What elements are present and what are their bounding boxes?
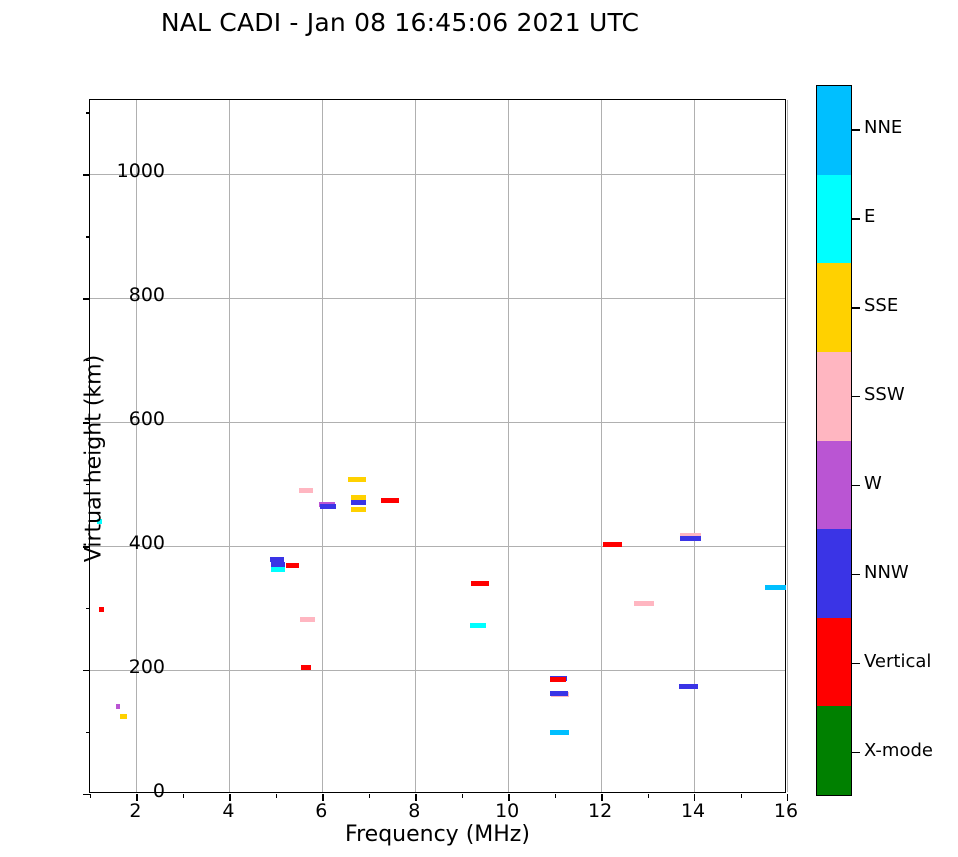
gridline-vertical xyxy=(322,100,323,792)
x-tick-label: 12 xyxy=(570,800,630,822)
data-mark-nnw xyxy=(351,500,366,505)
gridline-horizontal xyxy=(90,422,785,423)
gridline-vertical xyxy=(508,100,509,792)
x-tick-minor xyxy=(741,794,742,798)
colorbar-tick xyxy=(852,129,860,130)
data-mark-nne xyxy=(550,730,569,735)
colorbar-tick xyxy=(852,485,860,486)
colorbar-segment-nnw xyxy=(817,529,851,618)
gridline-vertical xyxy=(601,100,602,792)
colorbar-label-ssw: SSW xyxy=(864,384,905,405)
x-tick-label: 10 xyxy=(477,800,537,822)
x-tick-minor xyxy=(183,794,184,798)
x-tick-label: 16 xyxy=(756,800,816,822)
colorbar-label-x-mode: X-mode xyxy=(864,740,933,761)
data-mark-vertical xyxy=(603,542,622,547)
data-mark-nnw xyxy=(270,557,284,562)
data-mark-vertical xyxy=(286,563,299,568)
colorbar-segment-w xyxy=(817,441,851,530)
colorbar-segment-nne xyxy=(817,86,851,175)
x-axis-title: Frequency (MHz) xyxy=(89,822,786,847)
data-mark-nnw xyxy=(271,562,285,567)
x-tick-minor xyxy=(276,794,277,798)
colorbar-tick xyxy=(852,752,860,753)
colorbar-label-nne: NNE xyxy=(864,117,902,138)
y-axis-title: Virtual height (km) xyxy=(82,109,107,809)
colorbar-tick xyxy=(852,574,860,575)
x-tick-label: 6 xyxy=(291,800,351,822)
colorbar-label-sse: SSE xyxy=(864,295,898,316)
data-mark-vertical xyxy=(301,665,311,670)
x-tick-minor xyxy=(648,794,649,798)
x-tick-minor xyxy=(369,794,370,798)
gridline-horizontal xyxy=(90,174,785,175)
colorbar-label-vertical: Vertical xyxy=(864,651,931,672)
gridline-vertical xyxy=(136,100,137,792)
gridline-horizontal xyxy=(90,298,785,299)
data-mark-ssw xyxy=(634,601,654,606)
plot-area xyxy=(89,99,786,793)
colorbar-tick xyxy=(852,396,860,397)
data-mark-ssw xyxy=(300,617,315,622)
colorbar-tick xyxy=(852,307,860,308)
data-mark-e xyxy=(271,567,285,572)
colorbar-tick xyxy=(852,663,860,664)
data-mark-w xyxy=(116,704,121,709)
x-tick-label: 2 xyxy=(105,800,165,822)
data-mark-ssw xyxy=(299,488,313,493)
gridline-vertical xyxy=(229,100,230,792)
colorbar-segment-vertical xyxy=(817,618,851,707)
colorbar-segment-x-mode xyxy=(817,706,851,795)
colorbar-segment-sse xyxy=(817,263,851,352)
gridline-vertical xyxy=(787,100,788,792)
data-mark-nnw xyxy=(680,536,701,541)
gridline-horizontal xyxy=(90,546,785,547)
colorbar-label-e: E xyxy=(864,206,875,227)
data-mark-nnw xyxy=(320,504,335,509)
colorbar-label-w: W xyxy=(864,473,882,494)
x-tick-minor xyxy=(462,794,463,798)
ionogram-figure: NAL CADI - Jan 08 16:45:06 2021 UTC 2468… xyxy=(0,0,958,857)
data-mark-sse xyxy=(348,477,367,482)
data-mark-nnw xyxy=(550,691,568,696)
data-mark-sse xyxy=(351,495,366,500)
colorbar-tick xyxy=(852,218,860,219)
x-tick-minor xyxy=(555,794,556,798)
x-tick-label: 4 xyxy=(198,800,258,822)
data-mark-sse xyxy=(120,714,127,719)
page-title: NAL CADI - Jan 08 16:45:06 2021 UTC xyxy=(0,8,800,37)
data-mark-e xyxy=(470,623,486,628)
colorbar-label-nnw: NNW xyxy=(864,562,909,583)
colorbar xyxy=(816,85,852,796)
colorbar-segment-ssw xyxy=(817,352,851,441)
data-mark-nne xyxy=(765,585,786,590)
colorbar-segment-e xyxy=(817,175,851,264)
x-tick-label: 14 xyxy=(663,800,723,822)
gridline-horizontal xyxy=(90,670,785,671)
x-tick-label: 8 xyxy=(384,800,444,822)
data-mark-vertical xyxy=(550,677,566,682)
data-mark-sse xyxy=(351,507,366,512)
gridline-vertical xyxy=(415,100,416,792)
data-mark-vertical xyxy=(471,581,489,586)
data-mark-vertical xyxy=(381,498,399,503)
data-mark-nnw xyxy=(679,684,699,689)
